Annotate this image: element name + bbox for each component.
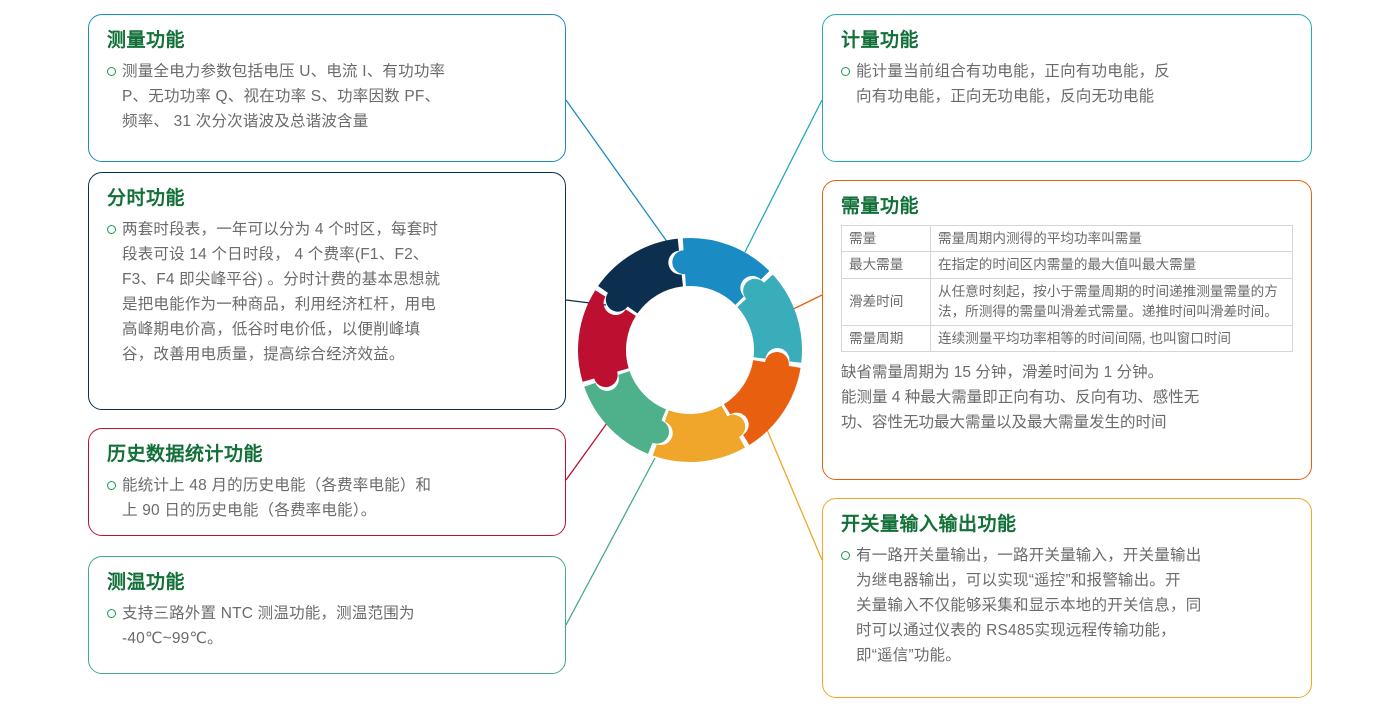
demand-definition: 从任意时刻起，按小于需量周期的时间递推测量需量的方法，所测得的需量叫滑差式需量。…: [931, 279, 1293, 325]
table-row: 需量周期连续测量平均功率相等的时间间隔, 也叫窗口时间: [842, 325, 1293, 352]
card-measurement-title: 测量功能: [107, 29, 547, 53]
card-history-statistics-body: 能统计上 48 月的历史电能（各费率电能）和 上 90 日的历史电能（各费率电能…: [122, 473, 431, 523]
card-history-statistics[interactable]: 历史数据统计功能 能统计上 48 月的历史电能（各费率电能）和 上 90 日的历…: [88, 428, 566, 536]
connector-temperature: [566, 458, 655, 625]
table-row: 需量需量周期内测得的平均功率叫需量: [842, 225, 1293, 252]
card-measurement[interactable]: 测量功能 测量全电力参数包括电压 U、电流 I、有功功率 P、无功功率 Q、视在…: [88, 14, 566, 162]
card-metering[interactable]: 计量功能 能计量当前组合有功电能，正向有功电能，反 向有功电能，正向无功电能，反…: [822, 14, 1312, 162]
card-time-of-use-title: 分时功能: [107, 187, 547, 211]
segment-cyan: [737, 275, 802, 363]
card-history-statistics-title: 历史数据统计功能: [107, 443, 547, 467]
card-metering-title: 计量功能: [841, 29, 1293, 53]
card-time-of-use-body: 两套时段表，一年可以分为 4 个时区，每套时 段表可设 14 个日时段， 4 个…: [122, 217, 440, 368]
bullet-icon: [107, 609, 116, 618]
bullet-icon: [107, 225, 116, 234]
card-digital-io[interactable]: 开关量输入输出功能 有一路开关量输出，一路开关量输入，开关量输出 为继电器输出，…: [822, 498, 1312, 698]
bullet-icon: [841, 551, 850, 560]
infographic-stage: 测量功能 测量全电力参数包括电压 U、电流 I、有功功率 P、无功功率 Q、视在…: [0, 0, 1400, 717]
segment-navy: [598, 239, 683, 314]
card-time-of-use[interactable]: 分时功能 两套时段表，一年可以分为 4 个时区，每套时 段表可设 14 个日时段…: [88, 172, 566, 410]
bullet-icon: [841, 67, 850, 76]
connector-measure: [566, 100, 668, 243]
card-digital-io-title: 开关量输入输出功能: [841, 513, 1293, 537]
segment-green: [584, 371, 669, 454]
puzzle-ring-diagram: [565, 225, 815, 475]
bullet-icon: [107, 67, 116, 76]
demand-term: 需量: [842, 225, 931, 252]
demand-term: 最大需量: [842, 252, 931, 279]
card-temperature-title: 测温功能: [107, 571, 547, 595]
card-temperature-body: 支持三路外置 NTC 测温功能，测温范围为 -40℃~99℃。: [122, 601, 415, 651]
card-metering-body: 能计量当前组合有功电能，正向有功电能，反 向有功电能，正向无功电能，反向无功电能: [856, 59, 1170, 109]
card-measurement-body: 测量全电力参数包括电压 U、电流 I、有功功率 P、无功功率 Q、视在功率 S、…: [122, 59, 445, 134]
demand-definition: 需量周期内测得的平均功率叫需量: [931, 225, 1293, 252]
card-digital-io-body: 有一路开关量输出，一路开关量输入，开关量输出 为继电器输出，可以实现“遥控”和报…: [856, 543, 1201, 669]
demand-definition: 在指定的时间区内需量的最大值叫最大需量: [931, 252, 1293, 279]
bullet-icon: [107, 481, 116, 490]
card-demand-title: 需量功能: [841, 195, 1293, 219]
demand-definition: 连续测量平均功率相等的时间间隔, 也叫窗口时间: [931, 325, 1293, 352]
demand-definitions-table: 需量需量周期内测得的平均功率叫需量最大需量在指定的时间区内需量的最大值叫最大需量…: [841, 225, 1293, 353]
card-temperature[interactable]: 测温功能 支持三路外置 NTC 测温功能，测温范围为 -40℃~99℃。: [88, 556, 566, 674]
table-row: 滑差时间从任意时刻起，按小于需量周期的时间递推测量需量的方法，所测得的需量叫滑差…: [842, 279, 1293, 325]
demand-term: 需量周期: [842, 325, 931, 352]
table-row: 最大需量在指定的时间区内需量的最大值叫最大需量: [842, 252, 1293, 279]
card-demand-footer: 缺省需量周期为 15 分钟，滑差时间为 1 分钟。 能测量 4 种最大需量即正向…: [841, 360, 1293, 435]
card-demand[interactable]: 需量功能 需量需量周期内测得的平均功率叫需量最大需量在指定的时间区内需量的最大值…: [822, 180, 1312, 480]
demand-term: 滑差时间: [842, 279, 931, 325]
